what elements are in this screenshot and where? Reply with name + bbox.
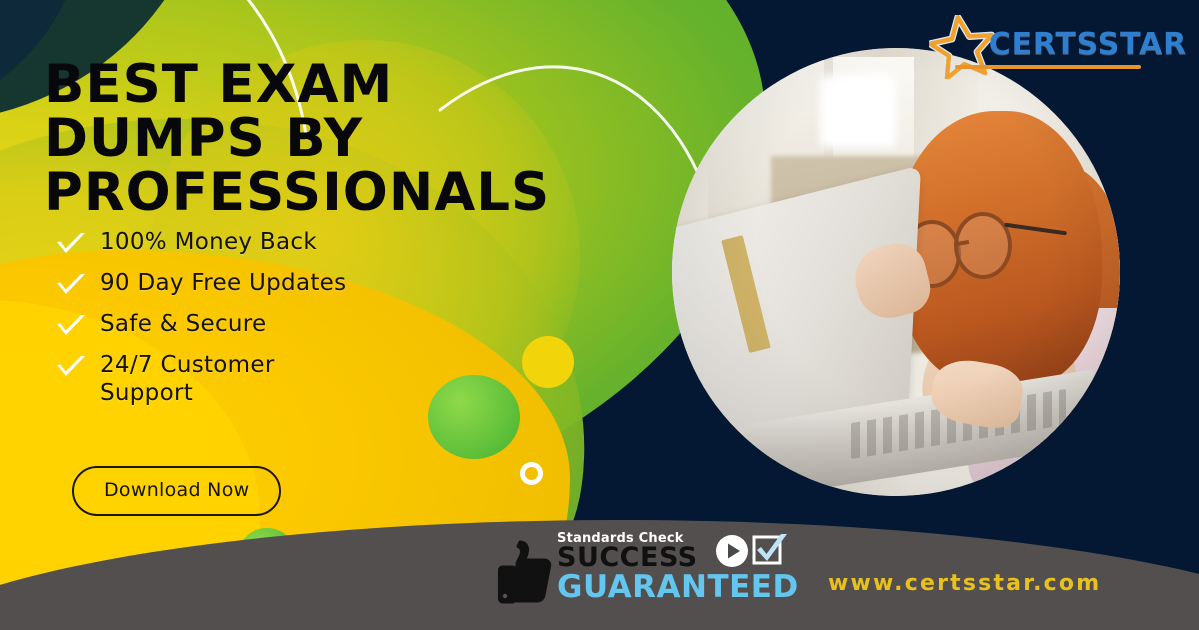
headline-line-2: Dumps By <box>44 112 664 166</box>
headline-line-1: Best Exam <box>44 58 664 112</box>
feature-list: 100% Money Back 90 Day Free Updates Safe… <box>56 228 476 411</box>
feature-label: 90 Day Free Updates <box>100 269 346 297</box>
feature-item: 100% Money Back <box>56 228 476 265</box>
yellow-dot <box>522 336 574 388</box>
logo-text-wrap: CERTSSTAR <box>989 27 1187 68</box>
check-icon <box>56 273 86 301</box>
headline: Best Exam Dumps By Professionals <box>44 58 664 220</box>
brand-logo[interactable]: CERTSSTAR <box>929 14 1187 80</box>
thumbs-up-icon <box>497 539 553 605</box>
photo-vignette <box>672 48 1120 496</box>
checkbox-check-icon <box>751 533 789 569</box>
headline-line-3: Professionals <box>44 166 664 220</box>
promo-banner: Best Exam Dumps By Professionals 100% Mo… <box>0 0 1199 630</box>
feature-item: Safe & Secure <box>56 310 476 347</box>
feature-label: 100% Money Back <box>100 228 317 256</box>
badge-bottom-line: GUARANTEED <box>557 572 799 604</box>
logo-brand-text: CERTSSTAR <box>989 27 1187 62</box>
logo-underline <box>955 65 1141 69</box>
hero-photo <box>672 48 1120 496</box>
download-now-button[interactable]: Download Now <box>72 466 281 516</box>
website-url[interactable]: www.certsstar.com <box>828 571 1101 596</box>
play-button-icon <box>715 534 749 568</box>
check-icon <box>56 355 86 383</box>
feature-item: 24/7 Customer Support <box>56 351 476 407</box>
check-icon <box>56 232 86 260</box>
success-guaranteed-badge: Standards Check SUCCESS GUARANTEED <box>497 531 799 605</box>
feature-label: Safe & Secure <box>100 310 266 338</box>
star-icon <box>929 15 995 79</box>
check-icon <box>56 314 86 342</box>
feature-label: 24/7 Customer Support <box>100 351 310 407</box>
feature-item: 90 Day Free Updates <box>56 269 476 306</box>
badge-icon-group <box>715 533 789 569</box>
badge-text-block: Standards Check SUCCESS GUARANTEED <box>557 531 799 603</box>
white-ring-dot <box>520 462 543 485</box>
